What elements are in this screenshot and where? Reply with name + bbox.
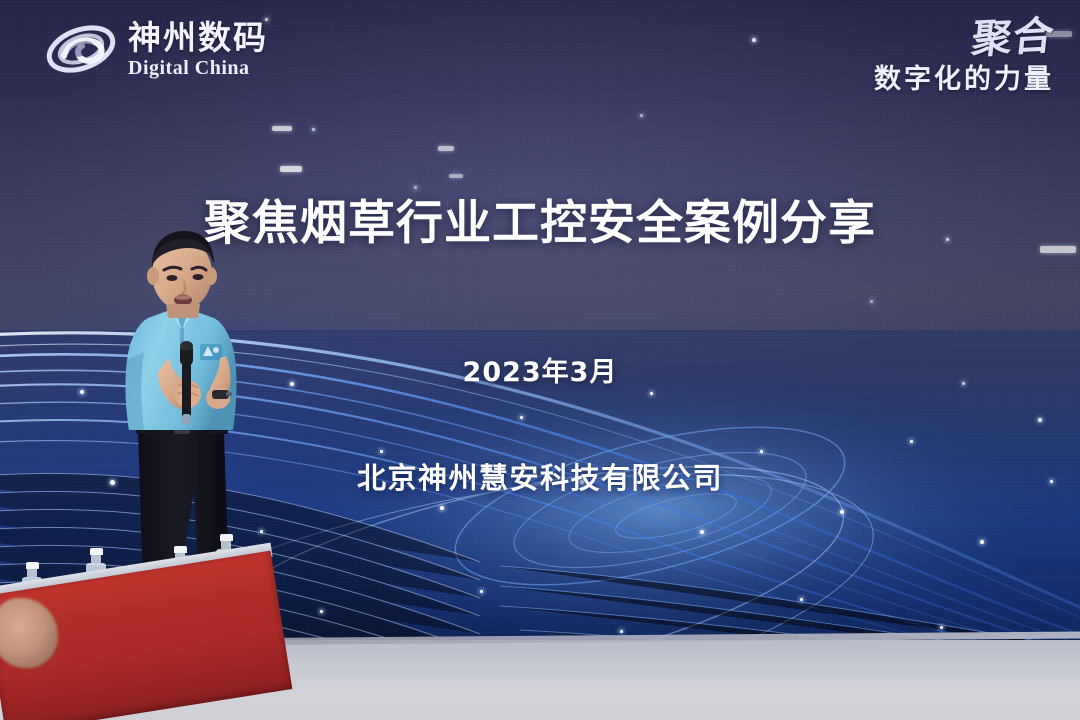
digital-china-swirl-icon [44, 16, 118, 82]
digital-china-logo: 神州数码 Digital China [44, 16, 268, 82]
digital-china-name-en: Digital China [128, 58, 268, 78]
juhe-calligraphy: 聚合 [970, 16, 1057, 60]
digital-china-name-cn: 神州数码 [128, 21, 268, 54]
juhe-event-logo: 聚合 数字化的力量 [874, 18, 1054, 93]
screenshot-root: 神州数码 Digital China 聚合 数字化的力量 聚焦烟草行业工控安全案… [0, 0, 1080, 720]
juhe-calligraphy-row: 聚合 [874, 18, 1054, 58]
digital-china-wordmark: 神州数码 Digital China [128, 21, 268, 78]
juhe-tagline: 数字化的力量 [874, 66, 1054, 93]
